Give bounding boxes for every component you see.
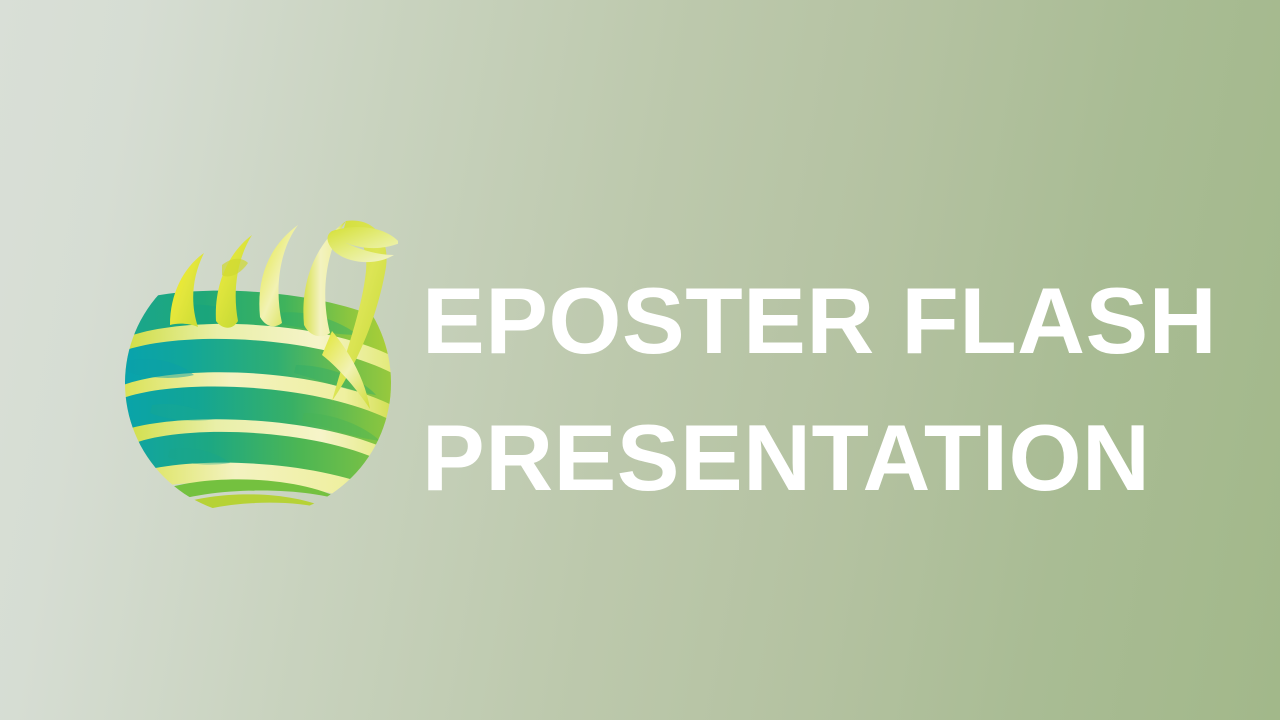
ribbon-bottom-curl-2 <box>176 494 332 515</box>
title-line-2: PRESENTATION <box>422 389 1212 526</box>
globe-ribbon-leaf-logo <box>118 205 398 515</box>
logo-svg <box>118 205 398 515</box>
spiral-yellow-2-land <box>222 259 248 277</box>
leaf-icon <box>328 227 399 262</box>
title-line-1: EPOSTER FLASH <box>422 252 1212 389</box>
slide-canvas: EPOSTER FLASH PRESENTATION <box>0 0 1280 720</box>
slide-title: EPOSTER FLASH PRESENTATION <box>422 252 1212 526</box>
